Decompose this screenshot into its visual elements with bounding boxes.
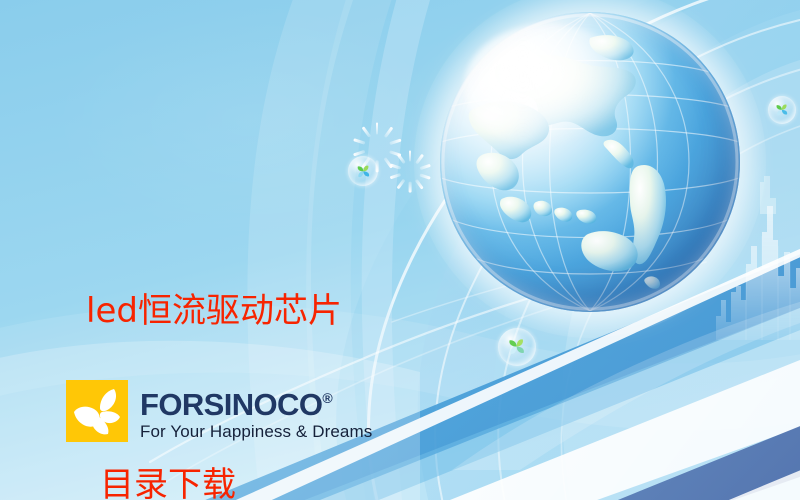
company-logo: FORSINOCO® For Your Happiness & Dreams <box>66 380 372 443</box>
promotional-banner: led恒流驱动芯片 目录下载 FORSINOCO® For Your Happ <box>0 0 800 500</box>
logo-tagline: For Your Happiness & Dreams <box>140 421 372 443</box>
world-globe <box>440 12 740 312</box>
headline-line-2: 目录下载 <box>86 456 342 500</box>
registered-trademark-symbol: ® <box>322 390 332 406</box>
globe-rim-light <box>440 12 740 312</box>
logo-mark <box>66 380 128 442</box>
four-petal-flower-icon <box>66 380 128 442</box>
headline-text: led恒流驱动芯片 目录下载 <box>86 166 342 500</box>
logo-wordmark: FORSINOCO® <box>140 382 372 421</box>
headline-line-1: led恒流驱动芯片 <box>86 282 342 340</box>
logo-wordmark-text: FORSINOCO <box>140 387 322 422</box>
logo-text-block: FORSINOCO® For Your Happiness & Dreams <box>140 380 372 443</box>
